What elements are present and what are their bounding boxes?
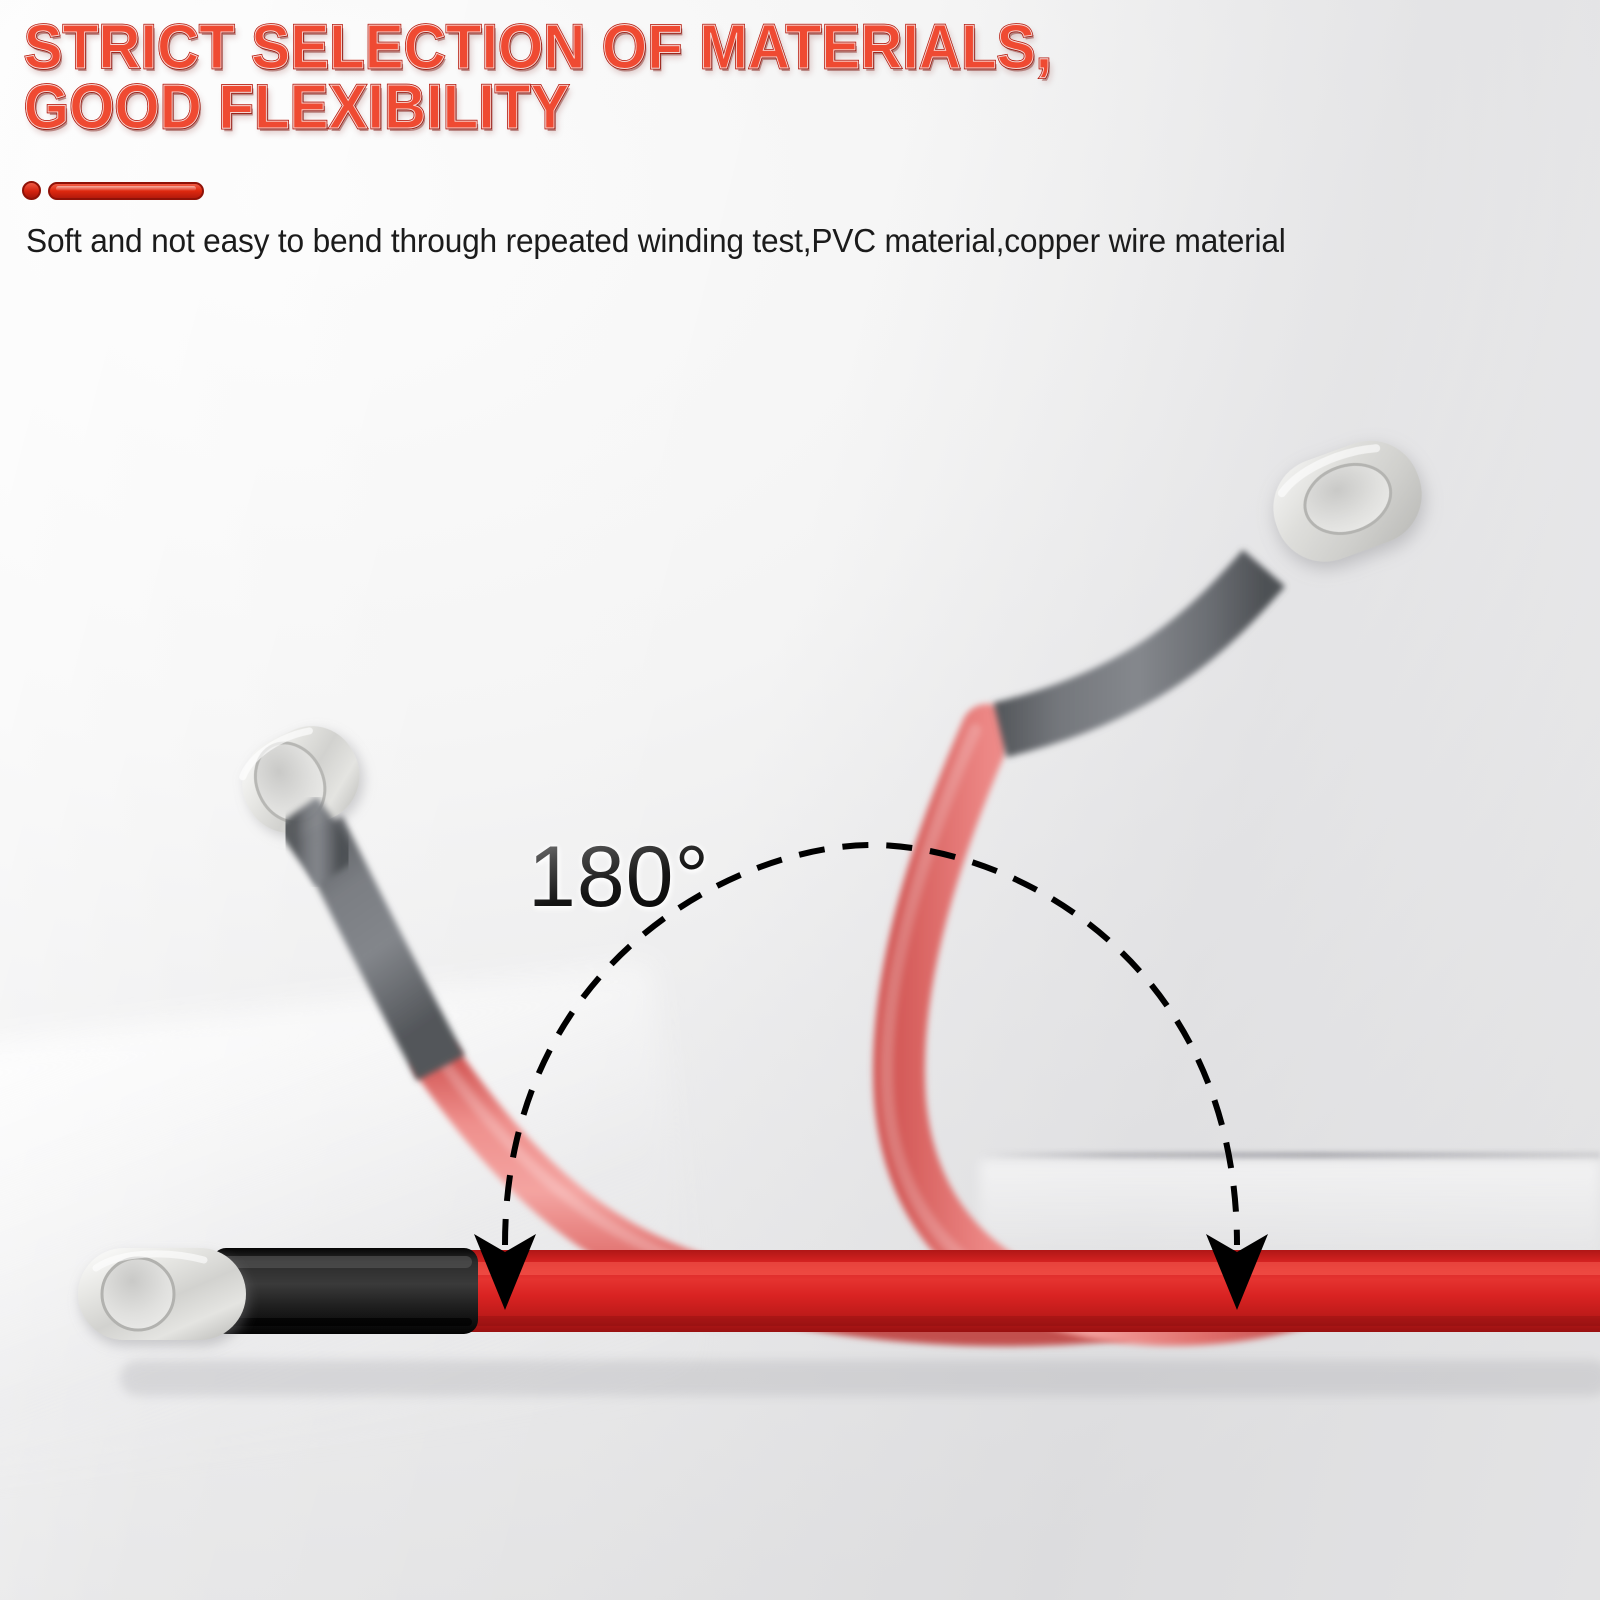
divider-bar <box>48 182 204 200</box>
page-subtitle: Soft and not easy to bend through repeat… <box>26 222 1286 260</box>
page-title: STRICT SELECTION OF MATERIALS, GOOD FLEX… <box>24 18 1261 138</box>
product-photo <box>0 300 1600 1600</box>
angle-label: 180° <box>528 828 710 927</box>
terminal-right-upper <box>1000 427 1436 730</box>
product-feature-banner: STRICT SELECTION OF MATERIALS, GOOD FLEX… <box>0 0 1600 1600</box>
terminal-left-upper <box>227 711 441 1068</box>
divider-dot-icon <box>22 181 41 200</box>
terminal-left-lower <box>78 1248 478 1340</box>
